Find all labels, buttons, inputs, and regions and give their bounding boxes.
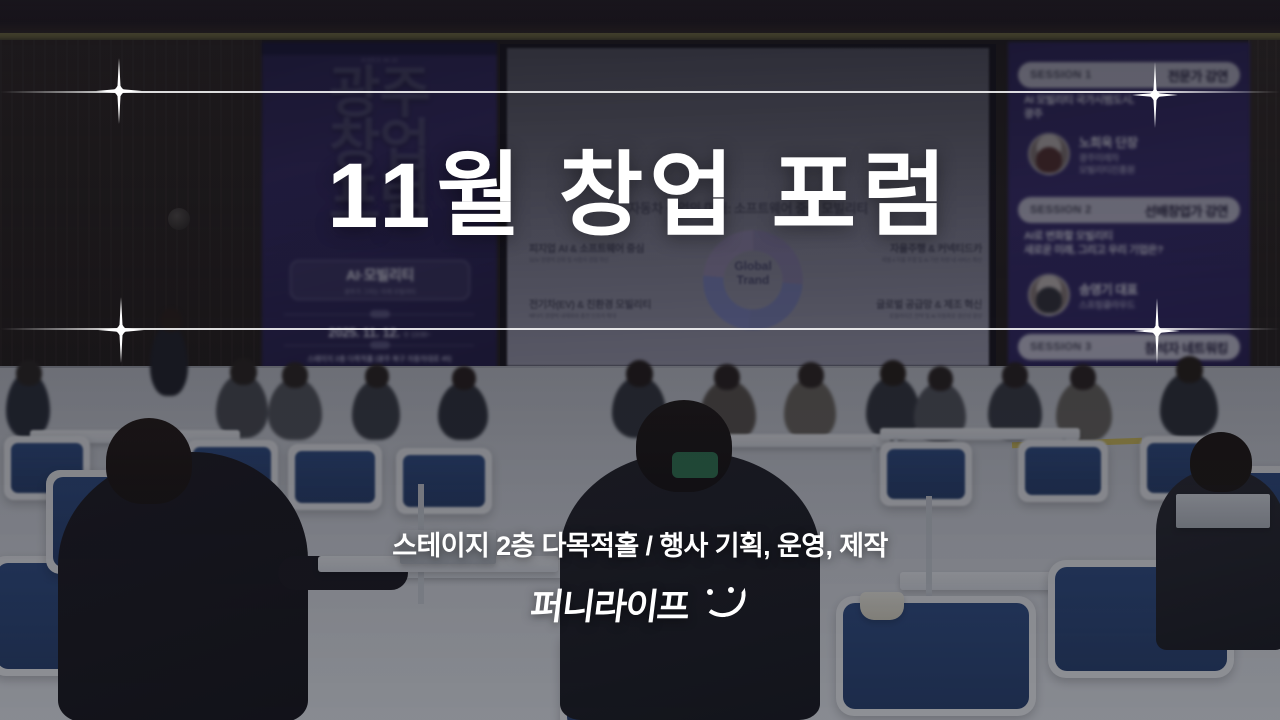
smiley-face-icon	[701, 587, 749, 621]
sparkle-icon	[1132, 62, 1178, 128]
decor-line-top	[0, 91, 1280, 93]
page-subtitle: 스테이지 2층 다목적홀 / 행사 기획, 운영, 제작	[0, 524, 1280, 563]
sparkle-icon	[96, 58, 142, 124]
brand-name: 퍼니라이프	[528, 578, 692, 630]
brand-logo: 퍼니라이프	[0, 578, 1280, 630]
slide-canvas: 사사티크 44.32 광주 창업 포럼 AI·모빌리티 광주가 그리는 미래 모…	[0, 0, 1280, 720]
sparkle-icon	[98, 297, 144, 363]
sparkle-icon	[1134, 298, 1180, 364]
decor-line-bottom	[0, 328, 1280, 330]
page-title: 11월 창업 포럼	[0, 150, 1280, 242]
